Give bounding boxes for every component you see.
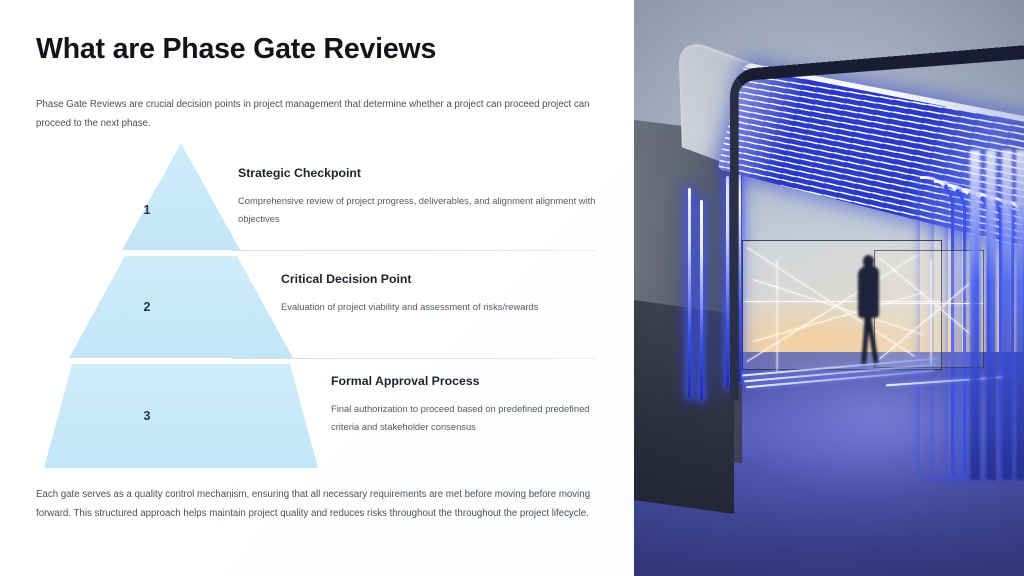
tier-3-description: Final authorization to proceed based on … xyxy=(331,400,611,437)
content-pane: What are Phase Gate Reviews Phase Gate R… xyxy=(0,0,634,576)
tier-3-heading: Formal Approval Process xyxy=(331,374,611,388)
tier-1-description: Comprehensive review of project progress… xyxy=(238,192,608,229)
pyramid-tier-2 xyxy=(69,256,293,358)
futuristic-gateway-image xyxy=(634,0,1024,576)
tier-3-text-block: Formal Approval Process Final authorizat… xyxy=(331,374,611,437)
pyramid-tier-3-number: 3 xyxy=(127,409,167,423)
pyramid-tier-2-number: 2 xyxy=(127,300,167,314)
tier-divider-1 xyxy=(232,250,596,251)
tier-2-text-block: Critical Decision Point Evaluation of pr… xyxy=(281,272,611,316)
tier-divider-2 xyxy=(232,358,596,359)
intro-paragraph: Phase Gate Reviews are crucial decision … xyxy=(36,95,611,134)
pyramid-tier-1 xyxy=(122,143,240,250)
tier-2-heading: Critical Decision Point xyxy=(281,272,611,286)
image-vignette xyxy=(634,0,1024,576)
slide: What are Phase Gate Reviews Phase Gate R… xyxy=(0,0,1024,576)
tier-2-description: Evaluation of project viability and asse… xyxy=(281,298,611,316)
slide-image-pane xyxy=(634,0,1024,576)
tier-1-text-block: Strategic Checkpoint Comprehensive revie… xyxy=(238,166,608,229)
pyramid-tier-1-number: 1 xyxy=(127,203,167,217)
page-title: What are Phase Gate Reviews xyxy=(36,33,436,66)
footer-paragraph: Each gate serves as a quality control me… xyxy=(36,485,596,524)
tier-1-heading: Strategic Checkpoint xyxy=(238,166,608,180)
pyramid-tier-3 xyxy=(44,364,318,468)
